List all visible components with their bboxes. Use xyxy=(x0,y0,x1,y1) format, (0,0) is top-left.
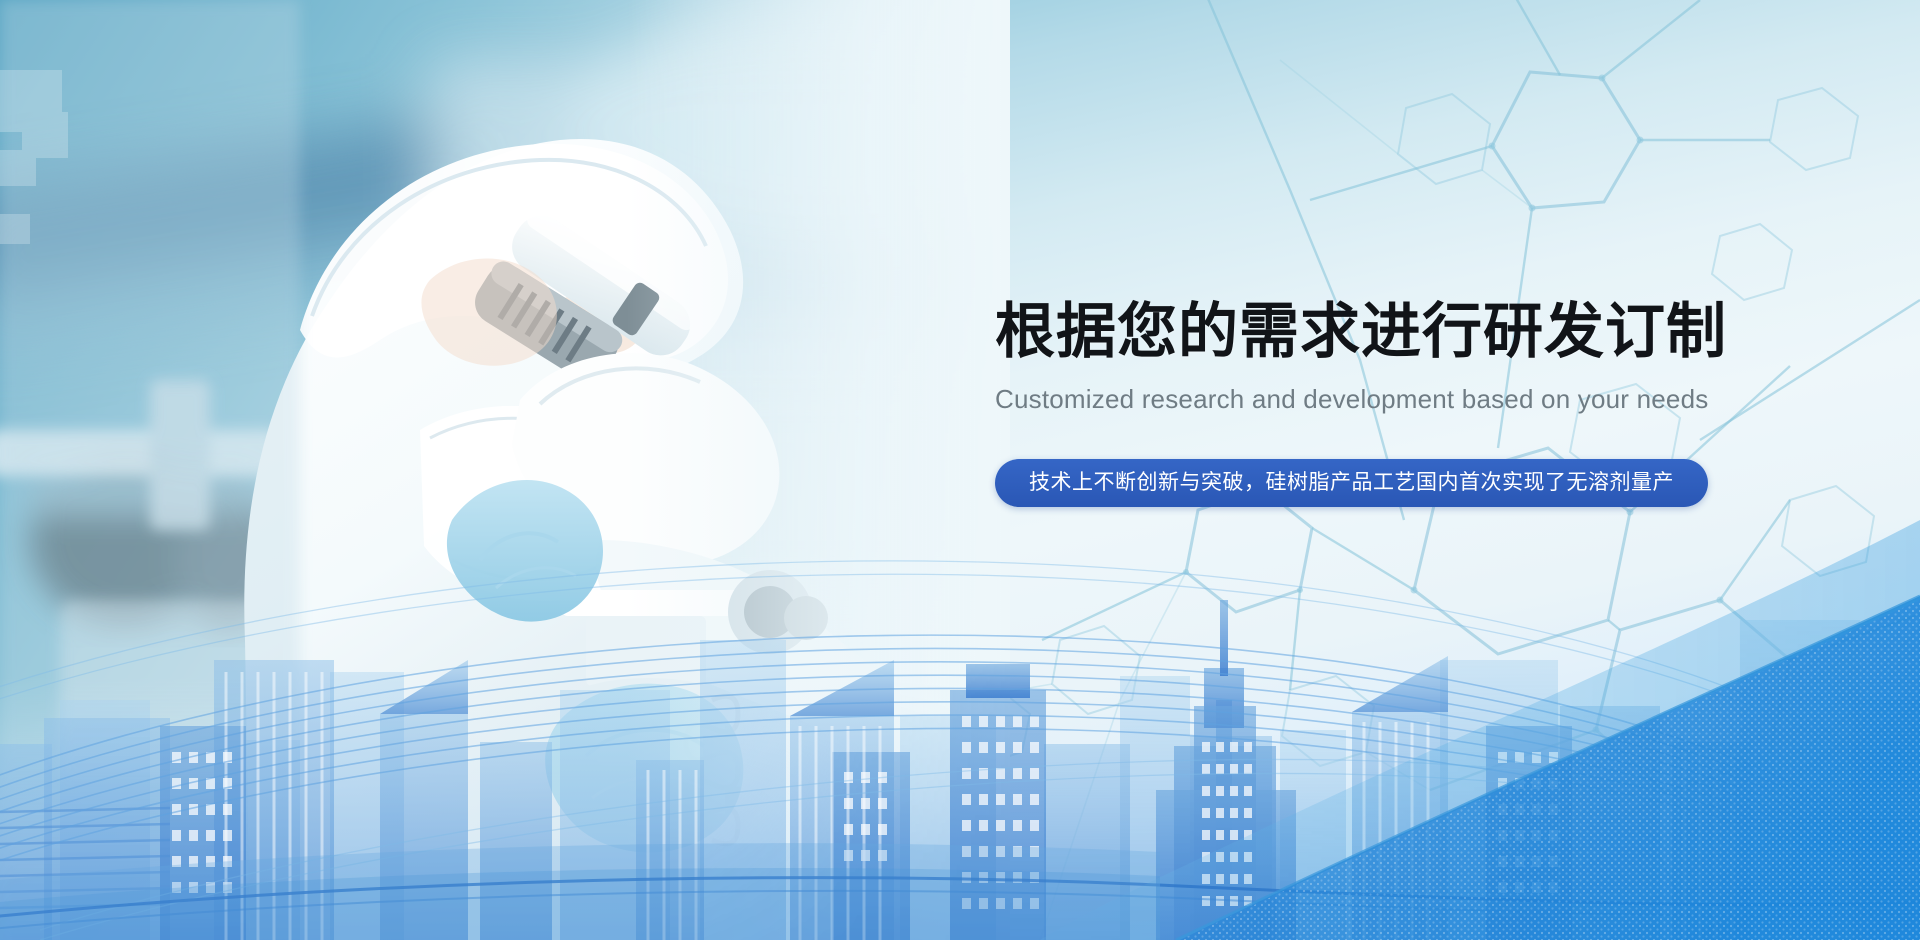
page-title: 根据您的需求进行研发订制 xyxy=(995,300,1755,365)
highlight-badge-wrapper: 技术上不断创新与突破，硅树脂产品工艺国内首次实现了无溶剂量产 xyxy=(995,459,1755,507)
hero-text-block: 根据您的需求进行研发订制 Customized research and dev… xyxy=(995,300,1755,507)
page-subtitle: Customized research and development base… xyxy=(995,383,1755,416)
status-badge: 技术上不断创新与突破，硅树脂产品工艺国内首次实现了无溶剂量产 xyxy=(995,459,1708,507)
hero-banner: 根据您的需求进行研发订制 Customized research and dev… xyxy=(0,0,1920,940)
